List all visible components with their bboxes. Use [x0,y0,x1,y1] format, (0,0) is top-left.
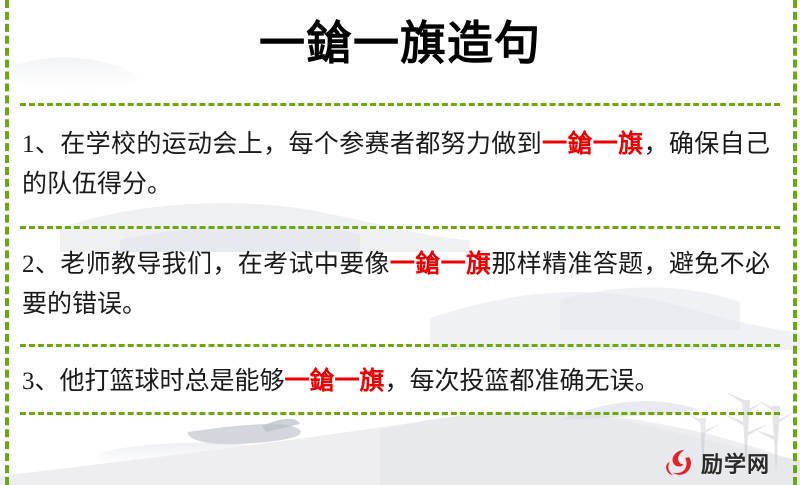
slide-canvas: 一鎗一旗造句 1、在学校的运动会上，每个参赛者都努力做到一鎗一旗，确保自己的队伍… [0,0,800,485]
sentence-1-index: 1、 [22,131,60,158]
sentence-2-index: 2、 [22,251,60,278]
page-title: 一鎗一旗造句 [0,18,800,71]
sentence-3-after: ，每次投篮都准确无误。 [385,368,660,395]
sentence-1-keyword: 一鎗一旗 [542,131,643,158]
watermark-logo: 励学网 [665,447,770,479]
divider-below-title [20,103,780,106]
sentence-3-keyword: 一鎗一旗 [285,368,385,395]
example-sentence-2: 2、老师教导我们，在考试中要像一鎗一旗那样精准答题，避免不必要的错误。 [22,245,770,325]
divider-after-sentence-1 [20,226,780,229]
sentence-1-before: 在学校的运动会上，每个参赛者都努力做到 [60,131,542,158]
frame-border-left [5,0,9,485]
sentence-2-before: 老师教导我们，在考试中要像 [60,251,390,278]
frame-border-right [793,0,797,485]
sentence-3-before: 他打篮球时总是能够 [60,368,285,395]
brand-name: 励学网 [701,447,770,479]
example-sentence-3: 3、他打篮球时总是能够一鎗一旗，每次投篮都准确无误。 [22,362,770,402]
divider-after-sentence-2 [20,344,780,347]
sentence-3-index: 3、 [22,368,60,395]
sentence-2-keyword: 一鎗一旗 [390,251,491,278]
flame-swoosh-icon [665,448,695,478]
example-sentence-1: 1、在学校的运动会上，每个参赛者都努力做到一鎗一旗，确保自己的队伍得分。 [22,125,770,205]
divider-after-sentence-3 [20,412,780,415]
